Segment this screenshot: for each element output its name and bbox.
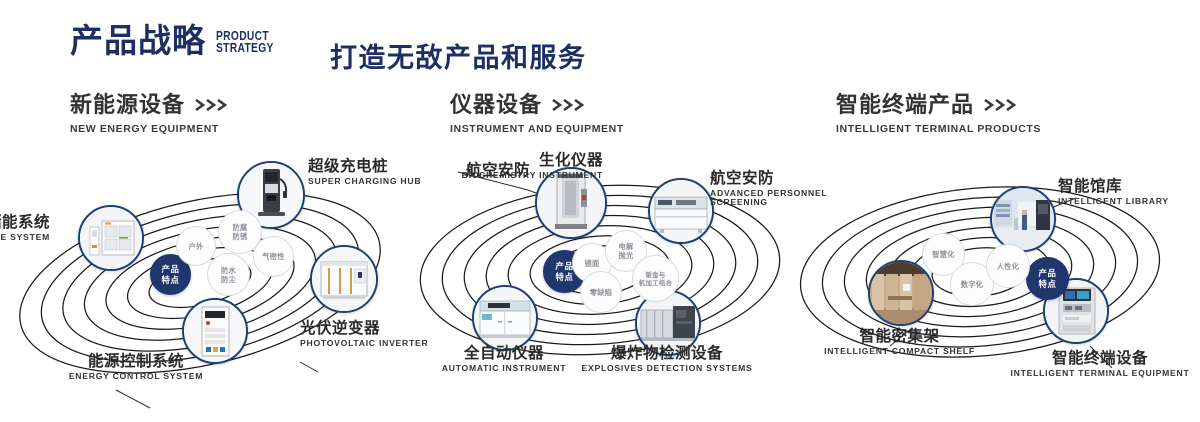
node-label-intelligent-library: 智能馆库 INTELLIGENT LIBRARY <box>1058 178 1169 206</box>
feature-bubble-humanization: 人性化 <box>986 244 1030 288</box>
feature-line1: 数字化 <box>961 280 983 289</box>
core-line2: 特点 <box>1039 279 1057 290</box>
energy-storage-cabinet-icon <box>80 207 142 269</box>
feature-line1: 钣金与 <box>639 271 672 279</box>
core-line1: 产品 <box>1039 268 1057 279</box>
feature-bubble-waterproof-dustproof: 防水 防尘 <box>207 253 250 296</box>
node-label-en: ENERGY STORAGE SYSTEM <box>0 233 50 243</box>
feature-line2: 防尘 <box>221 275 236 284</box>
node-label-explosives-detection-systems: 爆炸物检测设备 EXPLOSIVES DETECTION SYSTEMS <box>572 345 762 373</box>
node-label-en: INTELLIGENT COMPACT SHELF <box>812 347 987 357</box>
section-heading-instrument: 仪器设备 INSTRUMENT AND EQUIPMENT <box>450 94 624 135</box>
feature-line2: 机加工结合 <box>639 279 672 287</box>
personnel-screening-machine-icon <box>650 180 712 242</box>
panel-instrument-and-equipment: 航空安防 生化仪器 BIOCHEMISTRY INSTRUMENT 航空安防 A… <box>400 150 800 412</box>
section-title-en-2: INTELLIGENT TERMINAL PRODUCTS <box>836 123 1041 135</box>
automatic-analyzer-icon <box>474 287 536 349</box>
node-label-cn: 生化仪器 <box>455 152 603 169</box>
feature-line1: 防腐 <box>233 223 248 232</box>
node-label-biochemistry-instrument: 生化仪器 BIOCHEMISTRY INSTRUMENT <box>455 152 603 180</box>
node-label-automatic-instrument: 全自动仪器 AUTOMATIC INSTRUMENT <box>430 345 578 373</box>
page-title-cn: 产品战略 <box>70 24 206 57</box>
node-label-en: ENERGY CONTROL SYSTEM <box>56 372 216 382</box>
product-strategy-infographic: 产品战略 PRODUCT STRATEGY 打造无敌产品和服务 新能源设备 NE… <box>0 0 1200 422</box>
feature-line1: 电解 <box>619 242 634 251</box>
node-label-energy-control-system: 能源控制系统 ENERGY CONTROL SYSTEM <box>56 353 216 381</box>
node-label-cn: 智能馆库 <box>1058 178 1169 195</box>
feature-line1: 人性化 <box>997 262 1019 271</box>
feature-bubble-zero-defect: 零缺陷 <box>580 271 622 313</box>
feature-line1: 户外 <box>189 242 204 251</box>
page-title-en-line1: PRODUCT <box>216 30 274 43</box>
node-advanced-personnel-screening[interactable] <box>648 178 714 244</box>
section-title-en-1: INSTRUMENT AND EQUIPMENT <box>450 123 624 135</box>
section-title-text-0: 新能源设备 <box>70 94 185 118</box>
node-label-en: EXPLOSIVES DETECTION SYSTEMS <box>572 364 762 374</box>
section-title-en-0: NEW ENERGY EQUIPMENT <box>70 123 229 135</box>
section-heading-new-energy: 新能源设备 NEW ENERGY EQUIPMENT <box>70 94 229 135</box>
feature-bubble-airtightness: 气密性 <box>253 236 294 277</box>
feature-line1: 零缺陷 <box>590 288 612 297</box>
section-title-cn-0: 新能源设备 <box>70 94 229 118</box>
node-label-en: BIOCHEMISTRY INSTRUMENT <box>455 171 603 181</box>
panel-new-energy-equipment: 储能系统 ENERGY STORAGE SYSTEM 超级充电桩 SUPER C… <box>0 150 400 412</box>
feature-line1: 镜面 <box>585 259 600 268</box>
section-heading-terminal: 智能终端产品 INTELLIGENT TERMINAL PRODUCTS <box>836 94 1041 135</box>
feature-line2: 防锈 <box>233 232 248 241</box>
node-label-cn: 智能终端设备 <box>1000 350 1200 367</box>
section-title-text-2: 智能终端产品 <box>836 94 974 118</box>
inverter-cabinet-icon <box>312 247 376 311</box>
feature-bubble-outdoor: 户外 <box>176 226 216 266</box>
node-label-intelligent-compact-shelf: 智能密集架 INTELLIGENT COMPACT SHELF <box>812 328 987 356</box>
chevron-right-icon <box>552 98 586 115</box>
node-label-cn: 智能密集架 <box>812 328 987 345</box>
node-label-cn: 全自动仪器 <box>430 345 578 362</box>
node-label-intelligent-terminal-equipment: 智能终端设备 INTELLIGENT TERMINAL EQUIPMENT <box>1000 350 1200 378</box>
core-line1: 产品 <box>162 264 180 275</box>
page-title-en-line2: STRATEGY <box>216 42 274 55</box>
section-title-cn-2: 智能终端产品 <box>836 94 1041 118</box>
node-energy-storage-system[interactable] <box>78 205 144 271</box>
feature-line2: 抛光 <box>619 251 634 260</box>
node-label-cn: 储能系统 <box>0 214 50 231</box>
feature-line1: 智慧化 <box>932 250 954 259</box>
page-header: 产品战略 PRODUCT STRATEGY <box>70 24 286 57</box>
feature-line1: 气密性 <box>262 252 284 261</box>
compact-shelving-icon <box>870 262 932 324</box>
node-label-en: AUTOMATIC INSTRUMENT <box>430 364 578 374</box>
core-line2: 特点 <box>556 272 574 283</box>
page-subtitle: 打造无敌产品和服务 <box>330 36 587 75</box>
feature-core-product-traits: 产品 特点 <box>1026 257 1069 300</box>
node-label-en: INTELLIGENT TERMINAL EQUIPMENT <box>1000 369 1200 379</box>
feature-bubble-sheetmetal-machining: 钣金与 机加工结合 <box>632 255 679 302</box>
node-label-en: INTELLIGENT LIBRARY <box>1058 197 1169 207</box>
node-intelligent-compact-shelf[interactable] <box>868 260 934 326</box>
feature-line1: 防水 <box>221 266 236 275</box>
section-title-cn-1: 仪器设备 <box>450 94 624 118</box>
node-photovoltaic-inverter[interactable] <box>310 245 378 313</box>
core-line1: 产品 <box>556 261 574 272</box>
node-label-cn: 爆炸物检测设备 <box>572 345 762 362</box>
node-label-cn: 能源控制系统 <box>56 353 216 370</box>
section-title-text-1: 仪器设备 <box>450 94 542 118</box>
panel-intelligent-terminal-products: 智能馆库 INTELLIGENT LIBRARY 智能密集架 INTELLIGE… <box>790 150 1190 412</box>
smart-library-room-icon <box>992 188 1054 250</box>
chevron-right-icon <box>984 98 1018 115</box>
core-line2: 特点 <box>162 275 180 286</box>
node-intelligent-library[interactable] <box>990 186 1056 252</box>
node-label-energy-storage-system: 储能系统 ENERGY STORAGE SYSTEM <box>0 214 50 242</box>
page-title-en: PRODUCT STRATEGY <box>216 30 274 56</box>
node-automatic-instrument[interactable] <box>472 285 538 351</box>
chevron-right-icon <box>195 98 229 115</box>
